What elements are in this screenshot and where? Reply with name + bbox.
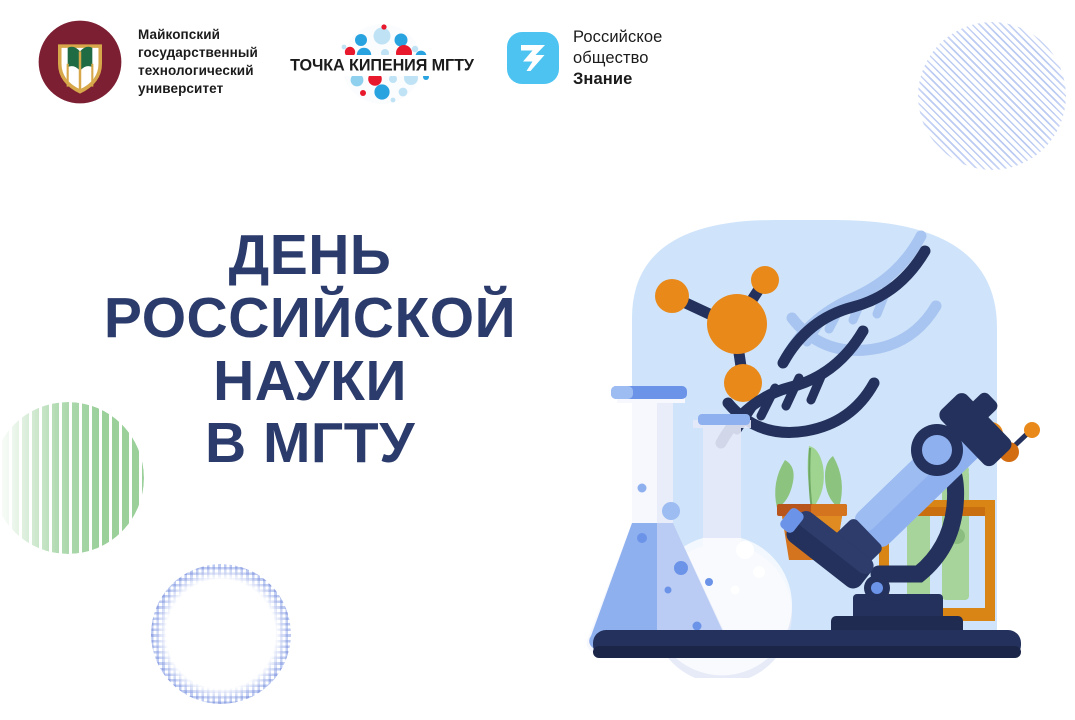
poster-canvas: Майкопский государственный технологическ… <box>0 0 1075 720</box>
znanie-line-3: Знание <box>573 69 662 90</box>
logo-bar: Майкопский государственный технологическ… <box>0 0 1075 125</box>
znanie-logo-text: Российское общество Знание <box>573 27 662 89</box>
tochka-kipeniya-logo: ТОЧКА КИПЕНИЯ МГТУ <box>287 22 477 106</box>
table-base <box>593 630 1021 658</box>
znanie-emblem-icon <box>506 31 560 85</box>
mgtu-logo: Майкопский государственный технологическ… <box>36 18 258 106</box>
znanie-line-2: общество <box>573 48 662 69</box>
tochka-kipeniya-banner-text: ТОЧКА КИПЕНИЯ МГТУ <box>290 56 475 74</box>
znanie-logo: Российское общество Знание <box>506 27 662 89</box>
tochka-kipeniya-emblem-icon: ТОЧКА КИПЕНИЯ МГТУ <box>287 22 477 106</box>
mgtu-emblem-icon <box>36 18 124 106</box>
znanie-line-1: Российское <box>573 27 662 48</box>
page-title: ДЕНЬ РОССИЙСКОЙ НАУКИ В МГТУ <box>30 224 590 475</box>
science-illustration <box>585 198 1055 678</box>
dotted-ring-decoration <box>151 564 291 704</box>
mgtu-logo-text: Майкопский государственный технологическ… <box>138 26 258 98</box>
